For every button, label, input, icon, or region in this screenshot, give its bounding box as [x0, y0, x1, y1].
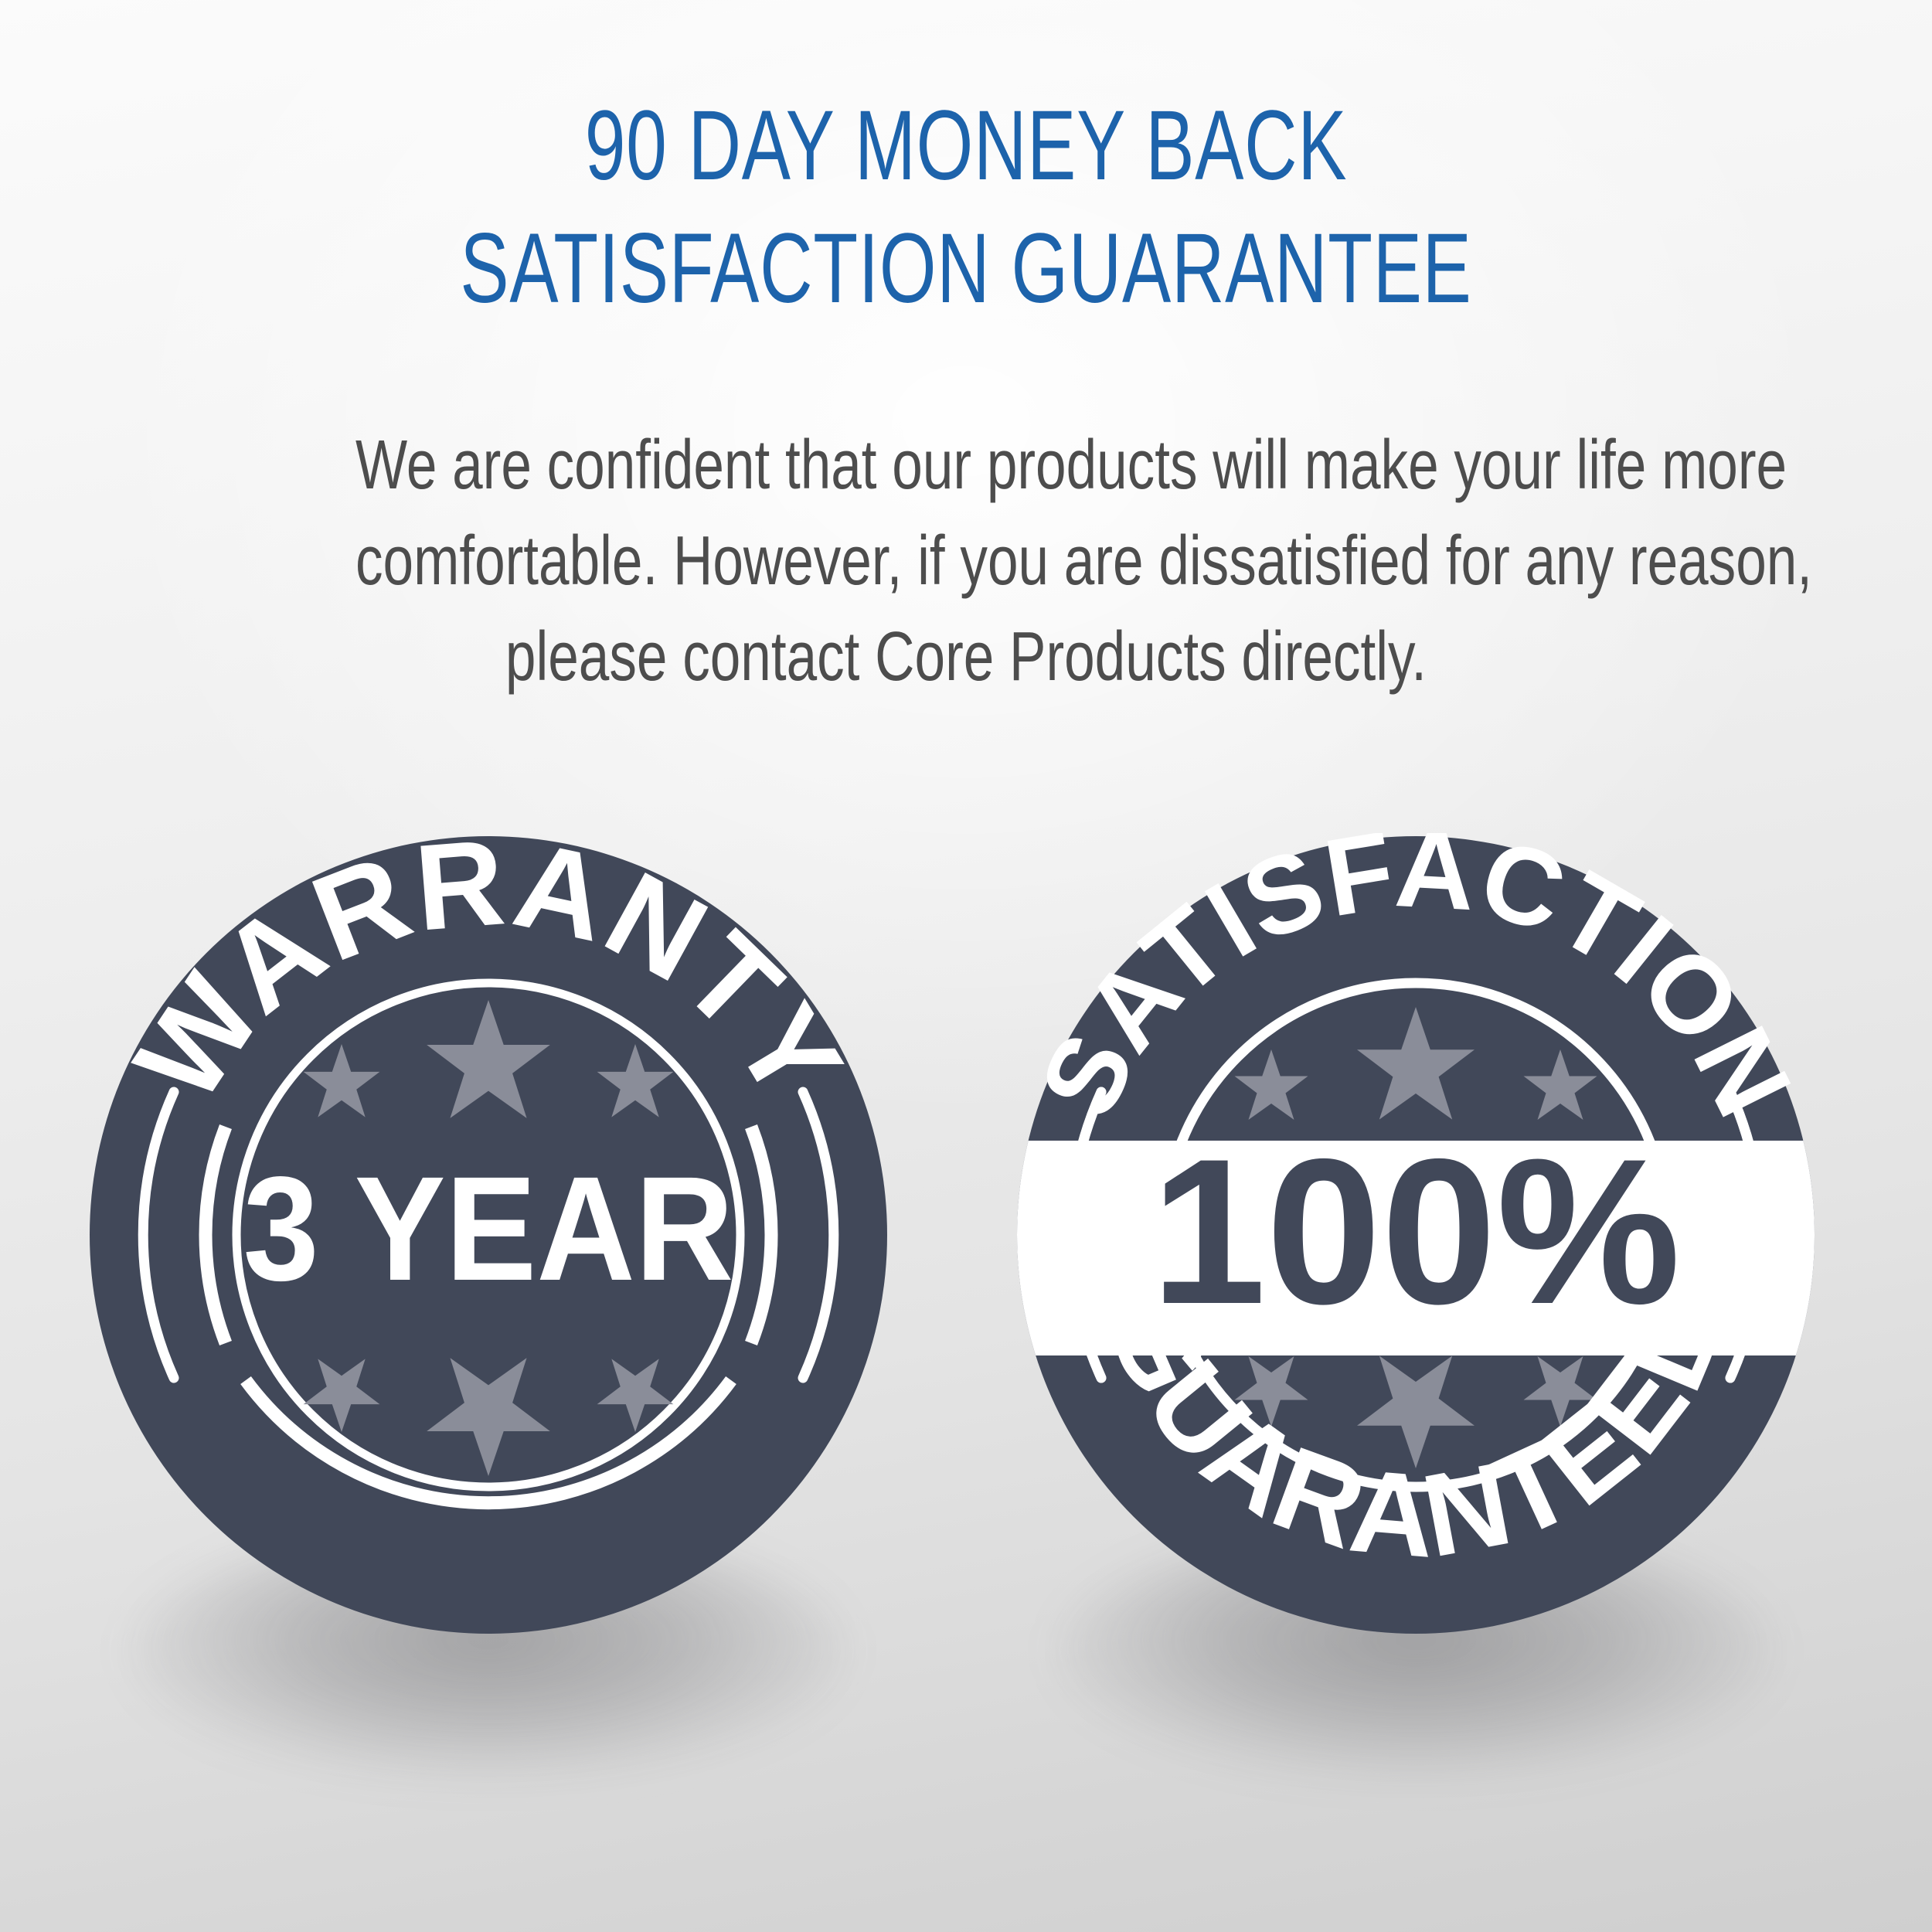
- warranty-center-label: 3 YEAR: [243, 1146, 734, 1311]
- guarantee-description-line-1: We are confident that our products will …: [355, 417, 1577, 513]
- guarantee-description-line-3: please contact Core Products directly.: [355, 609, 1577, 705]
- satisfaction-badge-graphic: 100% SATISFACTION GUARANTEED: [1014, 833, 1818, 1637]
- satisfaction-center-label: 100%: [1151, 1115, 1680, 1347]
- page-title-line-1: 90 DAY MONEY BACK: [251, 85, 1681, 208]
- guarantee-description-line-2: comfortable. However, if you are dissati…: [355, 513, 1577, 609]
- warranty-badge-graphic: WARRANTY 3 YEAR: [87, 833, 890, 1637]
- warranty-badge: WARRANTY 3 YEAR: [87, 833, 890, 1637]
- page-title: 90 DAY MONEY BACK SATISFACTION GUARANTEE: [251, 85, 1681, 330]
- satisfaction-badge: 100% SATISFACTION GUARANTEED: [1014, 833, 1818, 1637]
- page-title-line-2: SATISFACTION GUARANTEE: [251, 208, 1681, 331]
- promo-graphic: 90 DAY MONEY BACK SATISFACTION GUARANTEE…: [0, 0, 1932, 1932]
- guarantee-description: We are confident that our products will …: [355, 417, 1577, 706]
